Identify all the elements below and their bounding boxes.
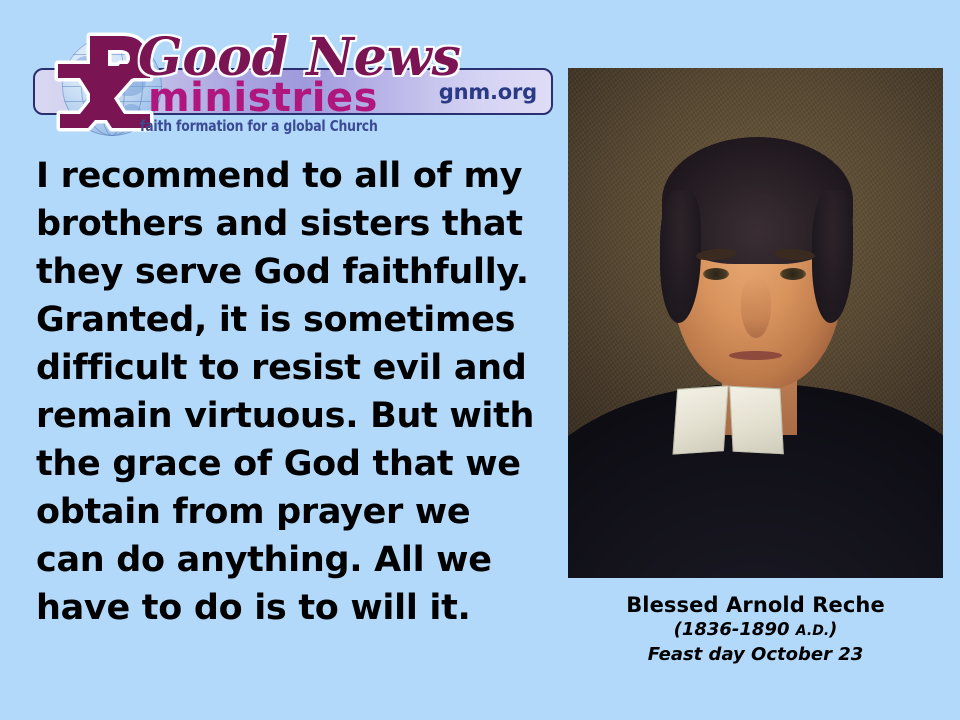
- logo-tagline: faith formation for a global Church: [140, 117, 378, 135]
- portrait-collar-right: [729, 385, 783, 454]
- wordmark-ministries: ministries: [148, 78, 378, 118]
- caption-dates: (1836-1890 A.D.): [568, 618, 943, 643]
- caption-name: Blessed Arnold Reche: [568, 592, 943, 618]
- slide-canvas: gnm.org Good News mi: [0, 0, 960, 720]
- caption-feast-day: Feast day October 23: [568, 643, 943, 666]
- quote-text: I recommend to all of my brothers and si…: [36, 152, 536, 632]
- portrait-nose: [741, 277, 771, 338]
- caption-dates-years: (1836-1890: [674, 619, 796, 640]
- portrait-caption: Blessed Arnold Reche (1836-1890 A.D.) Fe…: [568, 592, 943, 666]
- portrait-collar-left: [672, 385, 728, 455]
- portrait-image: [568, 68, 943, 578]
- caption-dates-ad: A.D.: [796, 623, 829, 639]
- caption-dates-close: ): [829, 619, 837, 640]
